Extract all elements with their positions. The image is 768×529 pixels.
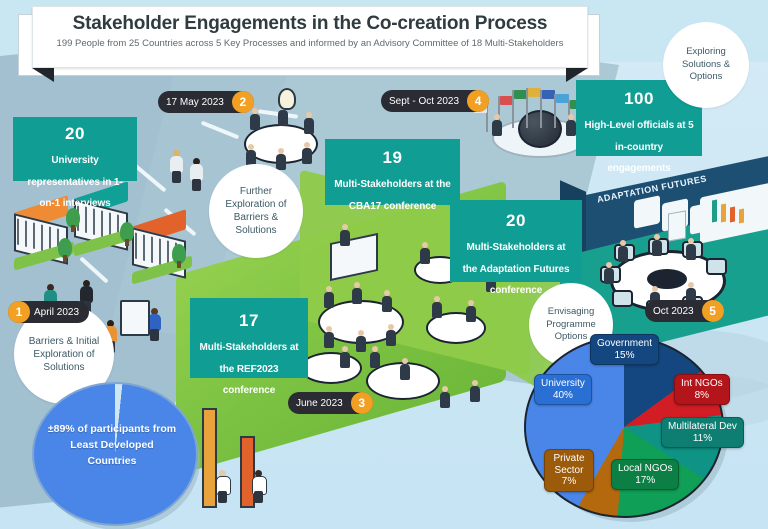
lawn-attendee xyxy=(400,364,410,380)
workshop-attendee xyxy=(278,110,288,126)
tree-icon xyxy=(58,238,72,258)
bubble-text: Barriers & Initial Exploration of Soluti… xyxy=(20,335,108,374)
slice-label-text: Private Sector xyxy=(553,453,584,476)
hall-screen-bar xyxy=(739,208,744,223)
lawn-attendee xyxy=(340,230,350,246)
hall-screen-bar xyxy=(730,206,735,222)
lawn-attendee xyxy=(370,352,380,368)
delegate-figure xyxy=(492,120,502,136)
hall-attendee xyxy=(686,244,696,260)
timeline-step-number: 2 xyxy=(232,91,254,113)
stat-number: 20 xyxy=(458,210,574,233)
stat-box-cba17: 19 Multi-Stakeholders at the CBA17 confe… xyxy=(325,139,460,205)
timeline-step-number: 1 xyxy=(8,301,30,323)
hall-chair xyxy=(612,290,633,307)
pie-slice-label-ldc: ±89% of participants from Least Develope… xyxy=(46,422,178,469)
lawn-attendee xyxy=(356,336,366,352)
timeline-pill-1[interactable]: April 2023 1 xyxy=(8,301,89,323)
stat-text: High-Level officials at 5 in-country eng… xyxy=(584,120,693,174)
timeline-pill-2[interactable]: 17 May 2023 2 xyxy=(158,91,254,113)
stat-number: 19 xyxy=(333,147,452,170)
lawn-attendee xyxy=(352,288,362,304)
chart-least-developed-countries: ±89% of participants from Least Develope… xyxy=(28,378,208,528)
stat-text: Multi-Stakeholders at the REF2023 confer… xyxy=(199,342,298,396)
stat-box-ref2023: 17 Multi-Stakeholders at the REF2023 con… xyxy=(190,298,308,378)
pie-slice-label-university: University40% xyxy=(534,374,592,405)
lawn-attendee xyxy=(466,306,476,322)
lightbulb-icon xyxy=(278,88,296,110)
lawn-attendee xyxy=(420,248,430,264)
timeline-date: Oct 2023 xyxy=(645,306,702,317)
chart-stakeholder-composition: Government Government 15%15% Int NGOs8% … xyxy=(516,330,764,529)
stat-box-adaptation-futures: 20 Multi-Stakeholders at the Adaptation … xyxy=(450,200,582,282)
lawn-table xyxy=(300,352,362,384)
bar-chart-bar-right xyxy=(240,436,255,508)
bubble-text: Exploring Solutions & Options xyxy=(669,46,743,83)
bubble-further-exploration: Further Exploration of Barriers & Soluti… xyxy=(209,164,303,258)
lawn-attendee xyxy=(386,330,396,346)
lawn-attendee xyxy=(324,332,334,348)
lawn-attendee xyxy=(382,296,392,312)
slice-label-text: Int NGOs xyxy=(681,378,723,389)
slice-label-text: Government xyxy=(597,338,652,349)
timeline-step-number: 4 xyxy=(467,90,489,112)
lawn-attendee xyxy=(340,352,350,368)
infographic-canvas: ADAPTATION FUTURES xyxy=(0,0,768,529)
lawn-attendee xyxy=(432,302,442,318)
workshop-attendee xyxy=(276,154,286,170)
hall-podium xyxy=(668,210,686,241)
stat-text: University representatives in 1-on-1 int… xyxy=(27,155,122,209)
timeline-pill-4[interactable]: Sept - Oct 2023 4 xyxy=(381,90,489,112)
pie-slice-label-int-ngos: Int NGOs8% xyxy=(674,374,730,405)
timeline-date: Sept - Oct 2023 xyxy=(381,96,467,107)
person-legs xyxy=(254,491,263,503)
stat-box-university-interviews: 20 University representatives in 1-on-1 … xyxy=(13,117,137,181)
slice-label-text: Multilateral Dev xyxy=(668,421,737,432)
stat-number: 17 xyxy=(198,310,300,333)
pie-slice-label-multilateral-dev: Multilateral Dev11% xyxy=(661,417,744,448)
stat-text: Multi-Stakeholders at the CBA17 conferen… xyxy=(334,179,450,212)
tree-icon xyxy=(172,244,186,264)
hall-display-tile xyxy=(634,195,660,229)
timeline-pill-5[interactable]: Oct 2023 5 xyxy=(645,300,724,322)
bubble-exploring-solutions: Exploring Solutions & Options xyxy=(663,22,749,108)
workshop-attendee xyxy=(304,118,314,134)
banner-fold-left-icon xyxy=(32,68,54,82)
timeline-step-number: 5 xyxy=(702,300,724,322)
timeline-date: April 2023 xyxy=(30,307,89,318)
hall-chair xyxy=(706,258,727,275)
slice-label-text: University xyxy=(541,378,585,389)
pie-slice-label-private-sector: Private Sector7% xyxy=(544,449,594,492)
timeline-date: June 2023 xyxy=(288,398,351,409)
hall-attendee xyxy=(604,268,614,284)
hall-attendee xyxy=(618,246,628,262)
hall-screen-bar xyxy=(712,199,717,222)
presentation-board xyxy=(120,300,150,336)
page-title: Stakeholder Engagements in the Co-creati… xyxy=(33,13,587,35)
hall-attendee xyxy=(652,240,662,256)
slice-label-text: Local NGOs xyxy=(618,463,672,474)
workshop-attendee xyxy=(302,148,312,164)
person-legs xyxy=(172,171,181,183)
bar-chart-bar-left xyxy=(202,408,217,508)
bubble-text: Further Exploration of Barriers & Soluti… xyxy=(215,185,297,237)
page-subtitle: 199 People from 25 Countries across 5 Ke… xyxy=(47,38,573,51)
stat-number: 20 xyxy=(21,123,129,146)
title-banner: Stakeholder Engagements in the Co-creati… xyxy=(32,6,588,68)
pie-slice-label-government: Government Government 15%15% xyxy=(590,334,659,365)
timeline-step-number: 3 xyxy=(351,392,373,414)
pie-slice-label-local-ngos: Local NGOs17% xyxy=(611,459,679,490)
tree-icon xyxy=(120,222,134,242)
workshop-attendee xyxy=(250,114,260,130)
delegate-figure xyxy=(566,120,576,136)
lawn-attendee xyxy=(440,392,450,408)
timeline-date: 17 May 2023 xyxy=(158,97,232,108)
person-legs xyxy=(218,491,227,503)
lawn-attendee xyxy=(324,292,334,308)
timeline-pill-3[interactable]: June 2023 3 xyxy=(288,392,373,414)
lawn-attendee xyxy=(470,386,480,402)
person-legs xyxy=(150,329,159,341)
person-legs xyxy=(192,179,201,191)
hall-screen-bar xyxy=(721,203,726,222)
